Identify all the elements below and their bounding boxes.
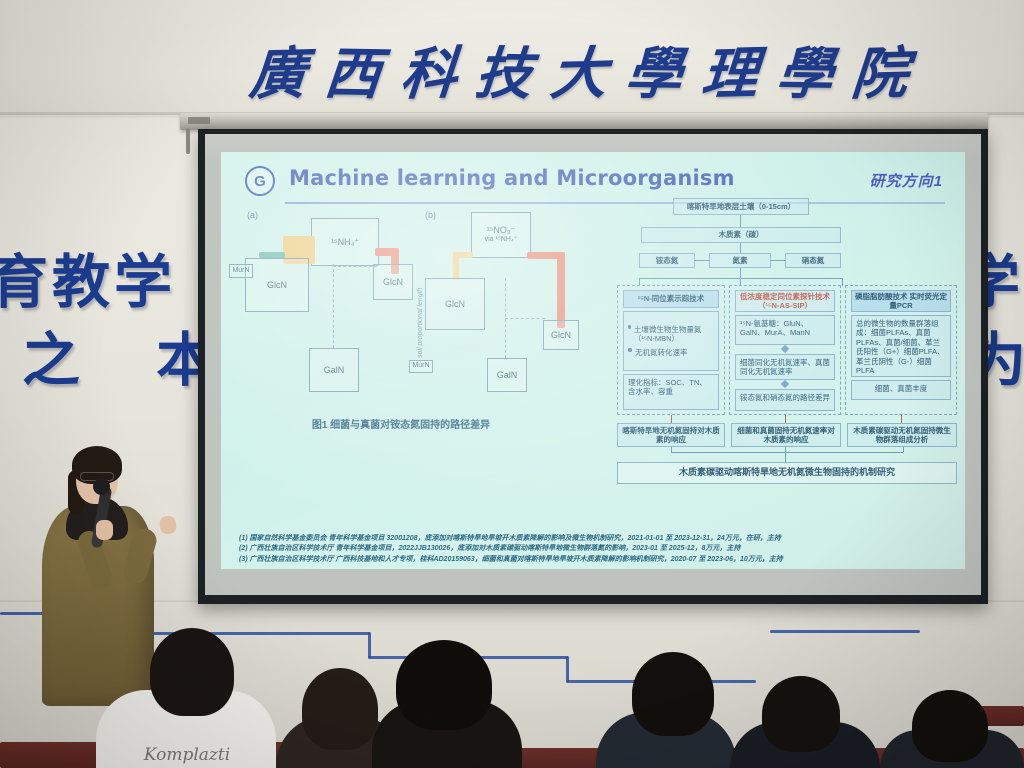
figure-caption: 图1 细菌与真菌对铵态氮固持的路径差异 [281,416,521,431]
panel-b-flow-yellow-down [453,252,459,280]
panel-a-node-glcn-right: GlcN [373,264,413,300]
flow-col2-stack-3: 铵态氮和硝态氮的路径差异 [735,389,835,411]
banner-char-2: 西 [322,28,387,110]
flow-col1-footer: 理化指标：SOC、TN、含水率、容重 [623,374,719,410]
banner-char-3: 科 [397,28,462,110]
flow-line-out-1 [671,415,672,423]
panel-a-node-murn: MurN [229,264,253,278]
flow-col3-head: 磷脂脂肪酸技术 实时荧光定量PCR [851,290,951,312]
projector-screen-rail [180,113,988,130]
banner-char-7: 理 [698,28,763,110]
panel-a-label: (a) [247,210,258,220]
flow-col1-body: 土壤微生物生物量氮（¹⁵N-MBN） 无机氮转化速率 [623,311,719,371]
panel-a-node-nh4: ¹⁵NH₄⁺ [311,218,379,266]
panel-b-label: (b) [425,210,436,220]
flow-nitrate: 硝态氮 [785,253,841,268]
flow-outcome-3: 木质素碳驱动无机氮固持微生物群落组成分析 [847,423,957,447]
reference-line-2: (2) 广西壮族自治区科学技术厅 青年科学基金项目，2022JJB130026，… [239,544,951,555]
panel-b-node-galn: GalN [487,358,527,392]
screen-surface: G Machine learning and Microorganism 研究方… [205,134,981,595]
slide-header: G Machine learning and Microorganism 研究方… [241,164,947,204]
banner-char-1: 廣 [247,28,312,110]
panel-b-node-no3: ¹⁵NO₃⁻ via ¹⁵NH₄⁺ [471,212,531,258]
hall-banner: 廣 西 科 技 大 學 理 學 院 [250,26,910,112]
reference-line-1: (1) 国家自然科学基金委员会 青年科学基金项目 32001208，底添加对喀斯… [239,534,951,545]
rail-hook-left [186,128,190,154]
panel-a-dash-connector [333,264,334,348]
flow-lignin: 木质素（碳） [641,227,841,243]
panel-b-node-murn: MurN [409,360,433,373]
flow-col2-stack-1: ¹⁵N-氨基糖：GluN、GalN、MurA、ManN [735,315,835,345]
flow-col1-bullet-1: 土壤微生物生物量氮（¹⁵N-MBN） [634,325,714,344]
flow-line-bus [639,278,843,279]
panel-b-dash-h [505,318,545,319]
slide-header-rule [285,202,945,204]
flow-line-third-down [740,268,741,278]
flow-outcome-2: 细菌和真菌固持无机氮速率对木质素的响应 [731,423,841,447]
flow-line-amm-n [695,260,709,261]
university-logo-icon: G [245,166,275,196]
flow-line-collect-r [903,447,904,452]
flow-line-second [740,243,741,253]
flow-top-soil: 喀斯特旱地表层土壤（0-15cm） [673,198,809,215]
panel-b-no3-sublabel: via ¹⁵NH₄⁺ [485,236,518,244]
flow-col1-bullet-2: 无机氮转化速率 [635,348,688,357]
bullet-icon [628,325,631,329]
flow-nitrogen: 氮素 [709,253,771,268]
audience-head-1 [150,628,234,716]
presentation-slide: G Machine learning and Microorganism 研究方… [221,152,965,569]
banner-char-8: 學 [773,28,838,110]
reference-line-3: (3) 广西壮族自治区科学技术厅 广西科技基地和人才专项，桂科AD2015906… [239,555,951,566]
flow-line-out-2 [785,415,786,423]
slide-title: Machine learning and Microorganism [289,166,735,190]
flow-conclusion: 木质素碳驱动喀斯特旱地无机氮微生物固持的机制研究 [617,462,957,484]
banner-char-4: 技 [472,28,537,110]
audience-head-4 [632,652,714,736]
bullet-icon [628,348,632,352]
flow-col2-head: 低浓度稳定同位素探针技术（¹⁵N-AS-SIP） [735,290,835,312]
lecture-hall-photo: 廣 西 科 技 大 學 理 學 院 育教学 之 本 学 为 G Machine … [0,0,1024,768]
panel-b-no3-label: ¹⁵NO₃⁻ [487,225,516,236]
flow-line-to-conclusion [785,452,786,462]
audience-head-6 [912,690,988,762]
banner-char-6: 學 [623,28,688,110]
banner-char-9: 院 [849,28,914,110]
panel-a-node-glcn-left: GlcN [245,258,309,312]
flow-line-collect-l [671,447,672,452]
wall-trim-2 [368,632,371,658]
flow-line-branch-r [842,278,843,286]
wall-trim-6 [770,630,920,633]
audience-head-3 [396,640,492,730]
panel-b-axis-label: soil proportional length [417,288,424,358]
flow-col3-footer: 细菌、真菌丰度 [851,380,951,400]
flow-line-top [740,215,741,227]
wall-trim-4 [566,656,569,682]
panel-b-flow-salmon-down [557,252,565,328]
slide-references: (1) 国家自然科学基金委员会 青年科学基金项目 32001208，底添加对喀斯… [239,534,951,566]
flow-col2-stack-2: 细菌同化无机氮速率、真菌同化无机氮速率 [735,354,835,380]
projector-screen: G Machine learning and Microorganism 研究方… [198,129,988,604]
flow-col1-head: ¹⁵N-同位素示踪技术 [623,290,719,308]
flow-outcome-1: 喀斯特旱地无机氮固持对木质素的响应 [617,423,725,447]
panel-b-node-glcn-right: GlcN [543,320,579,350]
flow-ammonium: 铵态氮 [639,253,695,268]
audience-head-5 [762,676,840,752]
panel-a-dash-h [333,266,377,267]
audience-hoodie-text: Komplazti [112,745,262,765]
slide-research-direction-tag: 研究方向1 [870,170,943,191]
presenter-hand-holding-mic [96,520,113,540]
panel-b-node-glcn-left: GlcN [425,278,485,330]
rail-sticker [188,117,210,124]
flow-col3-body: 总的微生物的数量群落组成：细菌PLFAs、真菌PLFAs、真菌/细菌、革兰氏阳性… [851,315,951,377]
panel-a-node-galn: GalN [309,348,359,392]
flow-line-n-nit [771,260,785,261]
microphone-head [93,478,110,495]
flow-line-collect [671,452,903,453]
audience-head-2 [302,668,378,750]
flow-line-out-3 [901,415,902,423]
wall-slogan-left-line1: 育教学 [0,252,176,313]
banner-char-5: 大 [548,28,613,110]
